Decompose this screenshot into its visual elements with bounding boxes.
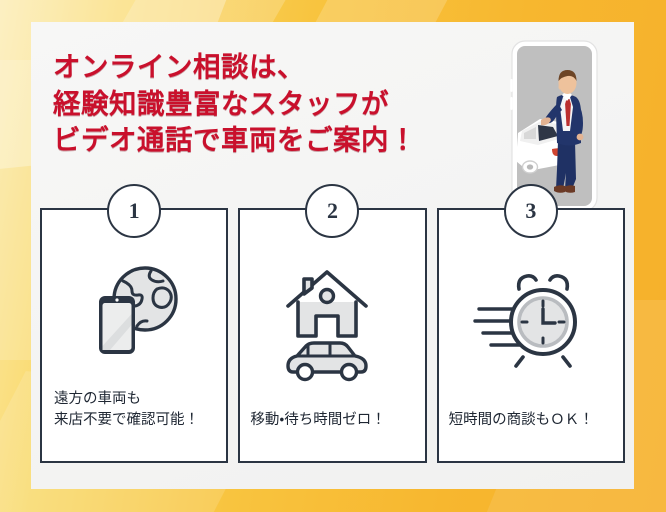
- benefit-card-3[interactable]: 3: [437, 208, 625, 463]
- promo-banner: オンライン相談は、 経験知識豊富なスタッフが ビデオ通話で車両をご案内！: [0, 0, 666, 512]
- benefit-card-1[interactable]: 1: [40, 208, 228, 463]
- benefit-card-list: 1: [40, 208, 625, 463]
- alarm-clock-speed-icon: [439, 210, 623, 410]
- page-title: オンライン相談は、 経験知識豊富なスタッフが ビデオ通話で車両をご案内！: [53, 49, 417, 159]
- house-car-icon: [240, 210, 424, 410]
- benefit-card-3-text: 短時間の商談もＯＫ！: [439, 410, 623, 431]
- step-badge-3: 3: [504, 184, 558, 238]
- step-badge-1: 1: [107, 184, 161, 238]
- step-badge-2: 2: [305, 184, 359, 238]
- benefit-card-2[interactable]: 2: [238, 208, 426, 463]
- benefit-card-2-text: 移動・待ち時間ゼロ！: [240, 410, 424, 431]
- content-panel: オンライン相談は、 経験知識豊富なスタッフが ビデオ通話で車両をご案内！: [31, 22, 634, 489]
- benefit-card-1-text: 遠方の車両も 来店不要で確認可能！: [42, 389, 226, 431]
